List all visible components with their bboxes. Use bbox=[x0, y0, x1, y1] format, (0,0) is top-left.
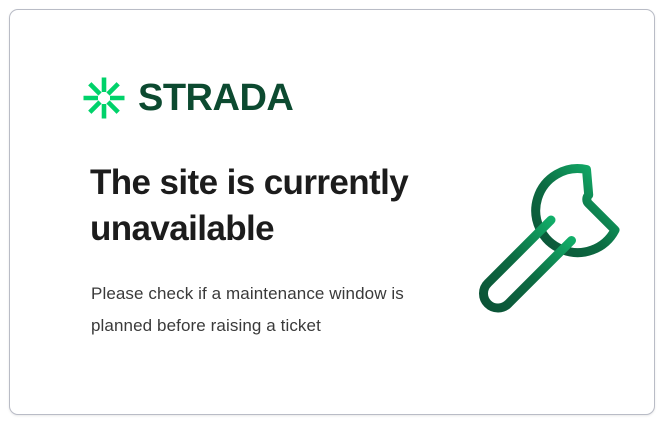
strada-asterisk-icon bbox=[82, 76, 126, 120]
page-title: The site is currently unavailable bbox=[90, 160, 440, 252]
wrench-icon bbox=[458, 158, 634, 328]
status-description: Please check if a maintenance window is … bbox=[91, 278, 409, 342]
brand-lockup: STRADA bbox=[82, 76, 293, 120]
status-card: STRADA The site is currently unavailable… bbox=[9, 9, 655, 415]
brand-wordmark: STRADA bbox=[138, 79, 293, 117]
